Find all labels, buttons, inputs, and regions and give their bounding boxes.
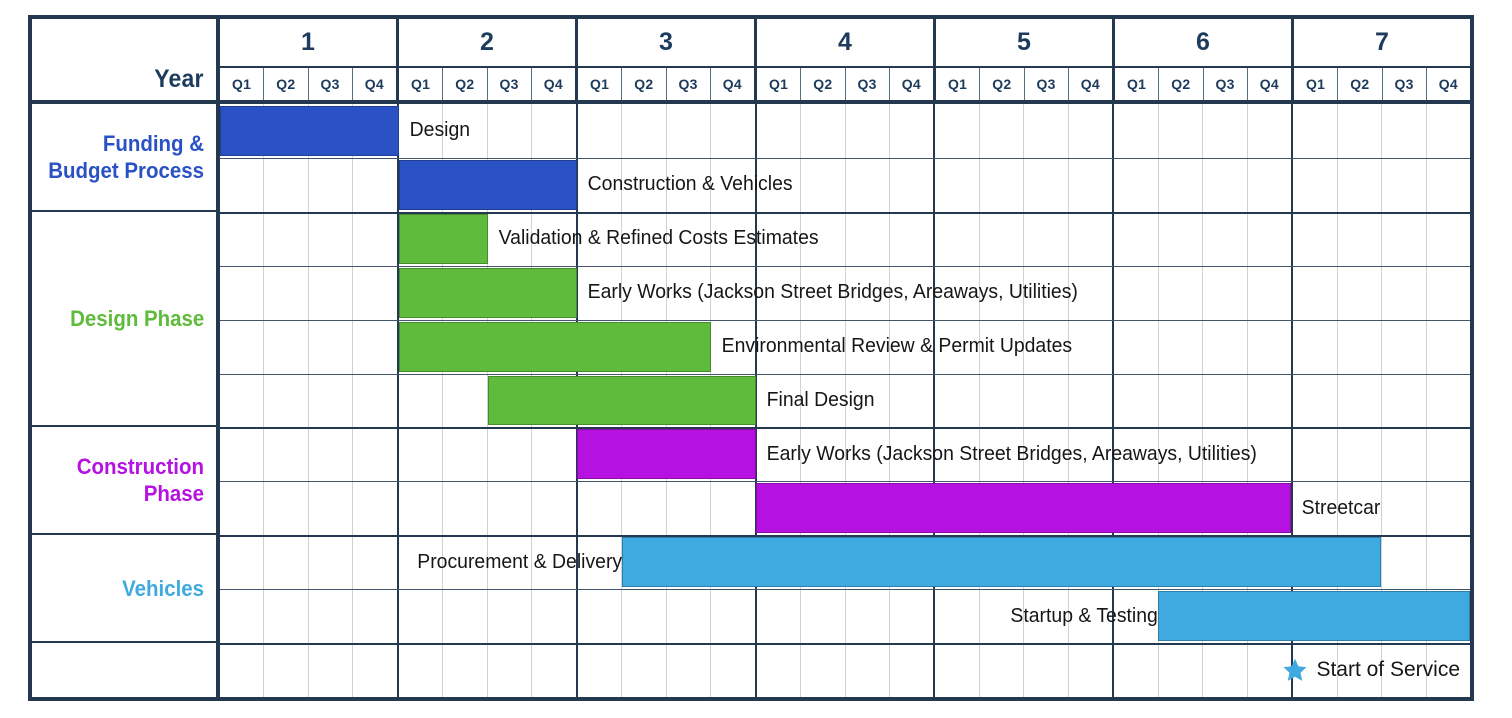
quarter-cell-y1-q2: Q2 <box>264 68 308 100</box>
gantt-bar[interactable] <box>399 322 712 372</box>
task-row: Streetcar <box>220 481 1470 535</box>
gantt-bar[interactable] <box>399 268 578 318</box>
gantt-bar[interactable] <box>399 160 578 210</box>
category-label: Design Phase <box>70 305 204 332</box>
quarter-cell-y2-q4: Q4 <box>532 68 575 100</box>
year-block-6: 6Q1Q2Q3Q4 <box>1115 19 1294 104</box>
quarter-cell-y1-q3: Q3 <box>309 68 353 100</box>
category-cell-milestone <box>32 643 216 697</box>
quarter-cell-y7-q4: Q4 <box>1427 68 1470 100</box>
timeline-header: 1Q1Q2Q3Q42Q1Q2Q3Q43Q1Q2Q3Q44Q1Q2Q3Q45Q1Q… <box>220 19 1470 104</box>
quarter-row-year-5: Q1Q2Q3Q4 <box>936 68 1112 104</box>
quarter-cell-y1-q4: Q4 <box>353 68 396 100</box>
task-row: Startup & Testing <box>220 589 1470 643</box>
quarter-cell-y6-q4: Q4 <box>1248 68 1291 100</box>
quarter-cell-y2-q1: Q1 <box>399 68 443 100</box>
year-block-3: 3Q1Q2Q3Q4 <box>578 19 757 104</box>
quarter-cell-y3-q2: Q2 <box>622 68 666 100</box>
quarter-row-year-7: Q1Q2Q3Q4 <box>1294 68 1470 104</box>
quarter-cell-y5-q4: Q4 <box>1069 68 1112 100</box>
gantt-bar-label: Early Works (Jackson Street Bridges, Are… <box>756 427 1449 481</box>
category-label: Vehicles <box>122 575 204 602</box>
star-icon <box>1282 657 1308 683</box>
category-cell-design-phase: Design Phase <box>32 212 216 428</box>
chart-body: Funding & Budget ProcessDesign PhaseCons… <box>32 104 1470 697</box>
timeline-grid: DesignConstruction & VehiclesValidation … <box>220 104 1470 697</box>
gantt-bar[interactable] <box>399 214 488 264</box>
quarter-cell-y5-q1: Q1 <box>936 68 980 100</box>
quarter-cell-y2-q2: Q2 <box>443 68 487 100</box>
gantt-bar[interactable] <box>622 537 1381 587</box>
year-block-7: 7Q1Q2Q3Q4 <box>1294 19 1470 104</box>
year-number-7: 7 <box>1294 19 1470 68</box>
gantt-bar-label: Environmental Review & Permit Updates <box>711 320 1447 374</box>
quarter-cell-y4-q4: Q4 <box>890 68 933 100</box>
category-cell-vehicles: Vehicles <box>32 535 216 643</box>
year-number-1: 1 <box>220 19 396 68</box>
category-cell-construction-phase: Construction Phase <box>32 427 216 535</box>
quarter-row-year-3: Q1Q2Q3Q4 <box>578 68 754 104</box>
category-label: Funding & Budget Process <box>44 130 204 184</box>
gantt-bar-label: Startup & Testing <box>248 589 1168 643</box>
year-block-2: 2Q1Q2Q3Q4 <box>399 19 578 104</box>
quarter-cell-y1-q1: Q1 <box>220 68 264 100</box>
task-row: Early Works (Jackson Street Bridges, Are… <box>220 427 1470 481</box>
task-row: Final Design <box>220 374 1470 428</box>
gantt-bar[interactable] <box>220 106 399 156</box>
chart-header: Year 1Q1Q2Q3Q42Q1Q2Q3Q43Q1Q2Q3Q44Q1Q2Q3Q… <box>32 19 1470 104</box>
quarter-cell-y4-q1: Q1 <box>757 68 801 100</box>
year-number-6: 6 <box>1115 19 1291 68</box>
gantt-bar[interactable] <box>577 429 756 479</box>
year-number-2: 2 <box>399 19 575 68</box>
year-number-4: 4 <box>757 19 933 68</box>
category-label: Construction Phase <box>44 453 204 507</box>
quarter-cell-y7-q1: Q1 <box>1294 68 1338 100</box>
task-row: Validation & Refined Costs Estimates <box>220 212 1470 266</box>
task-row: Construction & Vehicles <box>220 158 1470 212</box>
quarter-cell-y3-q4: Q4 <box>711 68 754 100</box>
gantt-chart: Year 1Q1Q2Q3Q42Q1Q2Q3Q43Q1Q2Q3Q44Q1Q2Q3Q… <box>28 15 1474 701</box>
gantt-bar[interactable] <box>488 376 756 426</box>
milestone-start-of-service: Start of Service <box>1282 643 1460 697</box>
gantt-bar[interactable] <box>1158 591 1471 641</box>
quarter-cell-y4-q3: Q3 <box>846 68 890 100</box>
task-row: Procurement & Delivery <box>220 535 1470 589</box>
gantt-bar-label: Streetcar <box>1291 481 1464 535</box>
gantt-bar-label: Construction & Vehicles <box>577 158 1443 212</box>
category-column: Funding & Budget ProcessDesign PhaseCons… <box>32 104 220 697</box>
gantt-bar-label: Early Works (Jackson Street Bridges, Are… <box>577 266 1443 320</box>
gantt-bar-label: Validation & Refined Costs Estimates <box>488 212 1441 266</box>
year-number-3: 3 <box>578 19 754 68</box>
year-header-label: Year <box>155 65 204 94</box>
quarter-cell-y6-q1: Q1 <box>1115 68 1159 100</box>
task-row: Environmental Review & Permit Updates <box>220 320 1470 374</box>
year-block-5: 5Q1Q2Q3Q4 <box>936 19 1115 104</box>
quarter-row-year-6: Q1Q2Q3Q4 <box>1115 68 1291 104</box>
gantt-bar-label: Design <box>399 104 1438 158</box>
milestone-row: Start of Service <box>220 643 1470 697</box>
category-cell-funding-budget-process: Funding & Budget Process <box>32 104 216 212</box>
quarter-row-year-1: Q1Q2Q3Q4 <box>220 68 396 104</box>
quarter-cell-y7-q3: Q3 <box>1383 68 1427 100</box>
quarter-row-year-4: Q1Q2Q3Q4 <box>757 68 933 104</box>
quarter-cell-y6-q2: Q2 <box>1159 68 1203 100</box>
year-header-cell: Year <box>32 19 220 104</box>
milestone-label: Start of Service <box>1316 658 1460 682</box>
year-number-5: 5 <box>936 19 1112 68</box>
quarter-cell-y2-q3: Q3 <box>488 68 532 100</box>
year-block-1: 1Q1Q2Q3Q4 <box>220 19 399 104</box>
quarter-row-year-2: Q1Q2Q3Q4 <box>399 68 575 104</box>
quarter-cell-y3-q3: Q3 <box>667 68 711 100</box>
quarter-cell-y6-q3: Q3 <box>1204 68 1248 100</box>
gantt-bar[interactable] <box>756 483 1292 533</box>
gantt-bar-label: Procurement & Delivery <box>232 535 632 589</box>
quarter-cell-y7-q2: Q2 <box>1338 68 1382 100</box>
task-row: Design <box>220 104 1470 158</box>
quarter-cell-y4-q2: Q2 <box>801 68 845 100</box>
quarter-cell-y3-q1: Q1 <box>578 68 622 100</box>
quarter-cell-y5-q2: Q2 <box>980 68 1024 100</box>
year-block-4: 4Q1Q2Q3Q4 <box>757 19 936 104</box>
quarter-cell-y5-q3: Q3 <box>1025 68 1069 100</box>
gantt-bar-label: Final Design <box>756 374 1449 428</box>
task-row: Early Works (Jackson Street Bridges, Are… <box>220 266 1470 320</box>
